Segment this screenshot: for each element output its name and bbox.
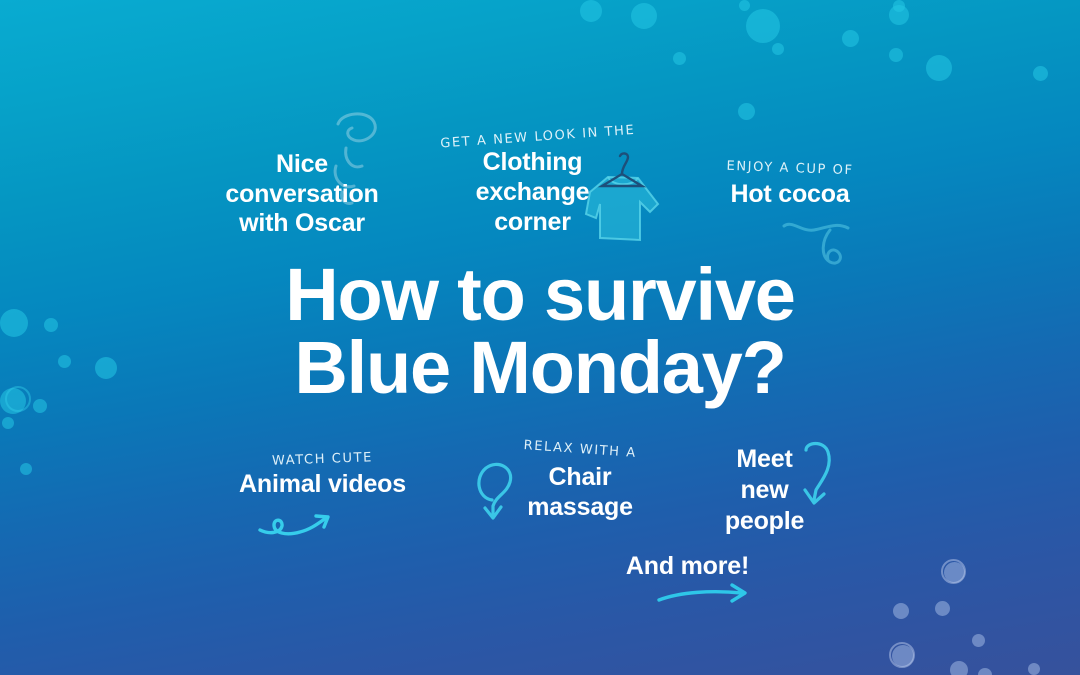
bubble <box>893 0 905 12</box>
bubble <box>893 603 909 619</box>
item-animal-videos: WATCH CUTE Animal videos <box>215 452 430 499</box>
poster-canvas: How to survive Blue Monday? Nice convers… <box>0 0 1080 675</box>
item-clothing-exchange: GET A NEW LOOK IN THE Clothing exchange … <box>440 128 625 237</box>
bubble <box>746 9 780 43</box>
page-title: How to survive Blue Monday? <box>0 258 1080 405</box>
item-kicker: ENJOY A CUP OF <box>700 158 880 179</box>
bubble <box>739 0 750 11</box>
bubble <box>889 48 903 62</box>
item-title: Hot cocoa <box>700 180 880 209</box>
item-nice-conversation: Nice conversation with Oscar <box>212 150 392 239</box>
loop-arrow-right-icon <box>258 506 336 548</box>
bubble-ring <box>889 642 915 668</box>
item-meet-new-people: Meet new people <box>692 444 837 537</box>
item-chair-massage: RELAX WITH A Chair massage <box>490 444 670 522</box>
item-hot-cocoa: ENJOY A CUP OF Hot cocoa <box>700 162 880 209</box>
bubble <box>944 562 965 583</box>
bubble <box>20 463 32 475</box>
item-kicker: WATCH CUTE <box>215 448 430 470</box>
bubble <box>889 5 909 25</box>
item-and-more: And more! <box>600 552 775 581</box>
bubble <box>950 661 968 675</box>
item-kicker: RELAX WITH A <box>490 436 671 464</box>
bubble <box>1028 663 1040 675</box>
item-title: And more! <box>600 552 775 581</box>
item-title: Nice conversation with Oscar <box>212 150 392 239</box>
item-title: Meet new people <box>692 444 837 537</box>
bubble <box>673 52 686 65</box>
bubble <box>1033 66 1048 81</box>
bubble <box>892 645 914 667</box>
bubble-ring <box>941 559 966 584</box>
bubble <box>580 0 602 22</box>
item-title: Animal videos <box>215 470 430 499</box>
bubble <box>842 30 859 47</box>
straight-arrow-right-icon <box>656 580 752 610</box>
bubble <box>935 601 950 616</box>
bubble <box>772 43 784 55</box>
bubble <box>972 634 985 647</box>
item-title: Clothing exchange corner <box>440 147 625 237</box>
bubble <box>926 55 952 81</box>
bubble <box>738 103 755 120</box>
bubble <box>631 3 657 29</box>
bubble <box>2 417 14 429</box>
item-title: Chair massage <box>490 462 670 522</box>
bubble <box>978 668 992 675</box>
